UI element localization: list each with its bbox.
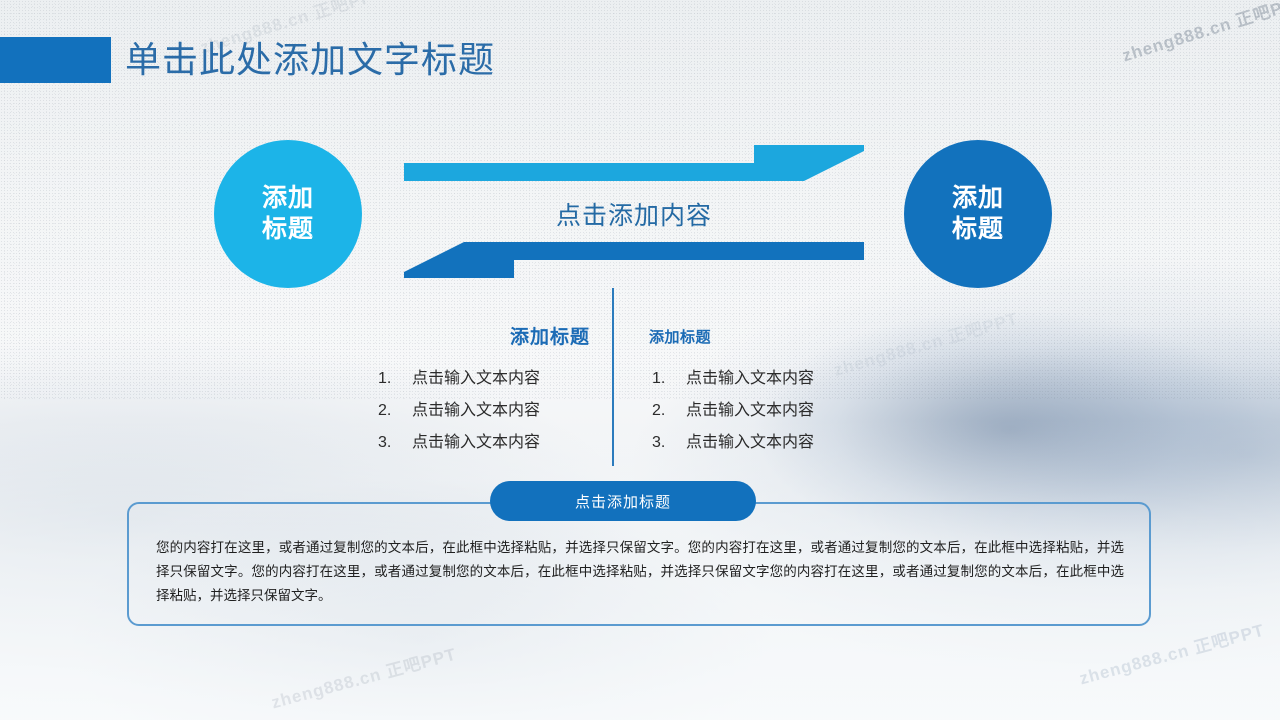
- column-divider: [612, 288, 614, 466]
- list-item-text: 点击输入文本内容: [686, 402, 814, 419]
- list-item[interactable]: 1.点击输入文本内容: [330, 363, 602, 395]
- right-column-heading: 添加标题: [649, 326, 912, 347]
- list-item-text: 点击输入文本内容: [412, 402, 540, 419]
- right-list-column: 添加标题 1.点击输入文本内容 2.点击输入文本内容 3.点击输入文本内容: [640, 324, 912, 459]
- list-item-text: 点击输入文本内容: [412, 370, 540, 387]
- list-item-number: 2.: [652, 395, 686, 427]
- left-list: 1.点击输入文本内容 2.点击输入文本内容 3.点击输入文本内容: [330, 363, 602, 459]
- list-item-text: 点击输入文本内容: [686, 370, 814, 387]
- left-list-column: 添加标题 1.点击输入文本内容 2.点击输入文本内容 3.点击输入文本内容: [330, 322, 602, 459]
- right-node-label-line2: 标题: [952, 214, 1004, 245]
- page-title: 单击此处添加文字标题: [125, 36, 495, 84]
- list-item[interactable]: 1.点击输入文本内容: [640, 363, 912, 395]
- list-item-number: 3.: [378, 427, 412, 459]
- arrow-pointing-right-icon: [404, 145, 864, 195]
- list-item-text: 点击输入文本内容: [686, 434, 814, 451]
- left-node-label-line1: 添加: [262, 183, 314, 214]
- list-item[interactable]: 2.点击输入文本内容: [330, 395, 602, 427]
- list-item[interactable]: 3.点击输入文本内容: [330, 427, 602, 459]
- list-item-number: 1.: [378, 363, 412, 395]
- watermark-top-right: zheng888.cn 正吧PPT: [1119, 0, 1280, 66]
- right-list: 1.点击输入文本内容 2.点击输入文本内容 3.点击输入文本内容: [640, 363, 912, 459]
- diagram-center-caption: 点击添加内容: [404, 196, 864, 232]
- list-item-text: 点击输入文本内容: [412, 434, 540, 451]
- content-panel-body-text[interactable]: 您的内容打在这里，或者通过复制您的文本后，在此框中选择粘贴，并选择只保留文字。您…: [156, 536, 1124, 608]
- left-column-heading: 添加标题: [330, 322, 590, 349]
- watermark-bottom-left: zheng888.cn 正吧PPT: [268, 640, 459, 714]
- title-accent-block: [0, 37, 111, 83]
- arrow-pointing-left-icon: [404, 228, 864, 278]
- right-node-circle[interactable]: 添加 标题: [904, 140, 1052, 288]
- list-item-number: 2.: [378, 395, 412, 427]
- left-node-label-line2: 标题: [262, 214, 314, 245]
- list-item[interactable]: 2.点击输入文本内容: [640, 395, 912, 427]
- slide-canvas: 单击此处添加文字标题 添加 标题 添加 标题 点击添加内容 添加标题 1.点击输…: [0, 0, 1280, 720]
- list-item[interactable]: 3.点击输入文本内容: [640, 427, 912, 459]
- left-node-circle[interactable]: 添加 标题: [214, 140, 362, 288]
- watermark-bottom-right: zheng888.cn 正吧PPT: [1076, 616, 1267, 690]
- content-panel-title-pill[interactable]: 点击添加标题: [490, 481, 756, 521]
- list-item-number: 3.: [652, 427, 686, 459]
- list-item-number: 1.: [652, 363, 686, 395]
- right-node-label-line1: 添加: [952, 183, 1004, 214]
